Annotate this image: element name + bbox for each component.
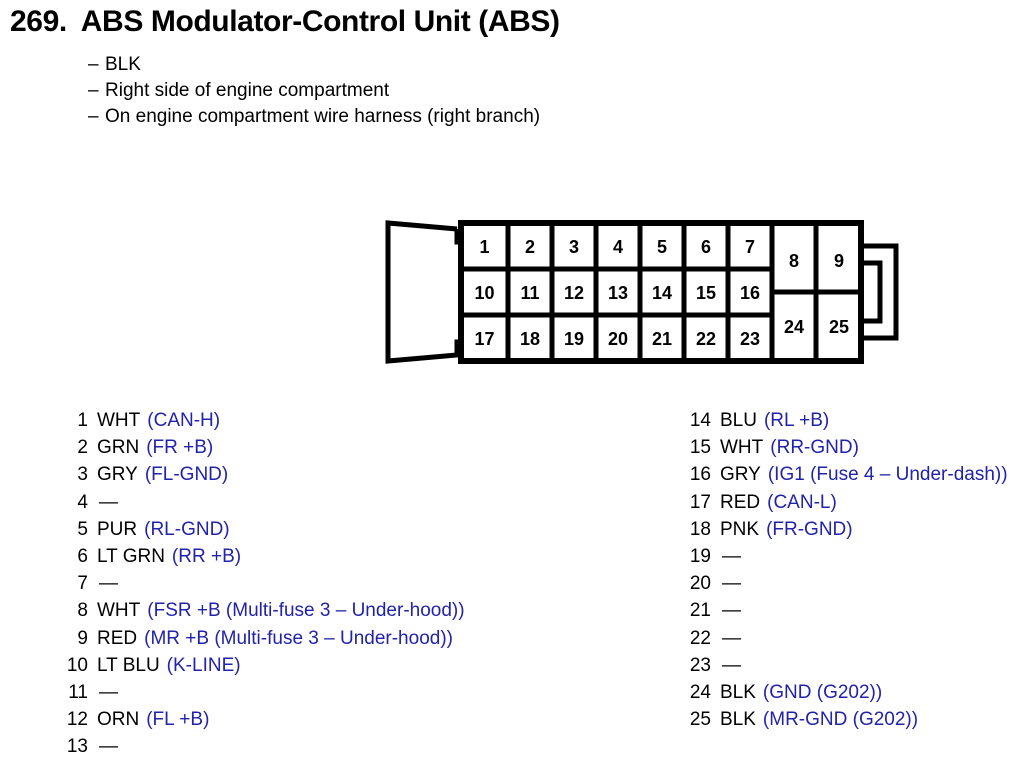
pin-circuit-name: (RR +B) [172, 546, 241, 568]
pin-cell-16: 16 [740, 283, 760, 303]
pin-number: 19 [685, 546, 711, 568]
pin-wire-color: ORN [97, 709, 139, 731]
pin-wire-color: GRY [97, 464, 138, 486]
pin-number: 6 [62, 546, 88, 568]
pin-cell-23: 23 [740, 329, 760, 349]
pin-cell-12: 12 [564, 283, 584, 303]
pin-number: 3 [62, 464, 88, 486]
pin-row: 14BLU(RL +B) [685, 410, 1008, 437]
pin-row: 8WHT(FSR +B (Multi-fuse 3 – Under-hood)) [62, 600, 465, 627]
pin-number: 16 [685, 464, 711, 486]
pin-wire-color: PNK [720, 519, 759, 541]
pin-number: 7 [62, 573, 88, 595]
pin-circuit-name: (MR +B (Multi-fuse 3 – Under-hood)) [144, 628, 453, 650]
pin-number: 17 [685, 492, 711, 514]
pin-unused-marker: — [99, 736, 118, 758]
pin-wire-color: GRN [97, 437, 139, 459]
pin-circuit-name: (FL +B) [146, 709, 209, 731]
pin-wire-color: LT BLU [97, 655, 160, 677]
pin-row: 23— [685, 655, 1008, 682]
pin-cell-15: 15 [696, 283, 716, 303]
pin-row: 21— [685, 600, 1008, 627]
pin-unused-marker: — [99, 682, 118, 704]
pin-number: 8 [62, 600, 88, 622]
pin-circuit-name: (IG1 (Fuse 4 – Under-dash)) [768, 464, 1008, 486]
pin-unused-marker: — [722, 655, 741, 677]
pin-cell-20: 20 [608, 329, 628, 349]
pin-circuit-name: (GND (G202)) [763, 682, 882, 704]
pin-circuit-name: (MR-GND (G202)) [763, 709, 918, 731]
pin-row: 3GRY(FL-GND) [62, 464, 465, 491]
pin-number: 20 [685, 573, 711, 595]
connector-pinout-diagram: 1 2 3 4 5 6 7 10 11 12 13 14 15 16 17 18… [383, 218, 903, 366]
note-dash-icon: – [88, 104, 105, 130]
pin-row: 18PNK(FR-GND) [685, 519, 1008, 546]
pin-row: 6LT GRN(RR +B) [62, 546, 465, 573]
pin-wire-color: WHT [97, 410, 140, 432]
component-note-0: –BLK [88, 52, 540, 78]
pin-cell-14: 14 [652, 283, 672, 303]
pin-number: 4 [62, 492, 88, 514]
pin-unused-marker: — [722, 600, 741, 622]
pin-row: 10LT BLU(K-LINE) [62, 655, 465, 682]
pin-cell-25: 25 [829, 317, 849, 337]
pin-row: 2GRN(FR +B) [62, 437, 465, 464]
note-text: BLK [105, 52, 141, 78]
pin-number: 13 [62, 736, 88, 758]
note-dash-icon: – [88, 52, 105, 78]
pin-cell-22: 22 [696, 329, 716, 349]
pin-cell-9: 9 [834, 251, 844, 271]
page-title-number: 269. [10, 5, 67, 38]
pin-circuit-name: (FR +B) [146, 437, 213, 459]
pin-number: 25 [685, 709, 711, 731]
pin-cell-19: 19 [564, 329, 584, 349]
pin-cell-21: 21 [652, 329, 672, 349]
pin-cell-17: 17 [474, 329, 494, 349]
note-dash-icon: – [88, 78, 105, 104]
pin-cell-1: 1 [479, 237, 489, 257]
pin-number: 21 [685, 600, 711, 622]
pin-number: 5 [62, 519, 88, 541]
pin-number: 1 [62, 410, 88, 432]
pin-assignment-list: 1WHT(CAN-H)2GRN(FR +B)3GRY(FL-GND)4—5PUR… [0, 410, 1031, 766]
pin-row: 4— [62, 492, 465, 519]
page-title: 269.ABS Modulator-Control Unit (ABS) [10, 4, 560, 40]
pin-circuit-name: (FR-GND) [766, 519, 853, 541]
pin-cell-10: 10 [474, 283, 494, 303]
pin-wire-color: RED [720, 492, 760, 514]
pin-unused-marker: — [722, 628, 741, 650]
pin-cell-18: 18 [520, 329, 540, 349]
pin-number: 11 [62, 682, 88, 704]
pin-cell-4: 4 [613, 237, 623, 257]
pin-cell-6: 6 [701, 237, 711, 257]
pin-number: 12 [62, 709, 88, 731]
pin-cell-8: 8 [789, 251, 799, 271]
page-title-text: ABS Modulator-Control Unit (ABS) [81, 5, 560, 38]
pin-circuit-name: (RR-GND) [770, 437, 859, 459]
component-notes-list: –BLK–Right side of engine compartment–On… [88, 52, 540, 130]
pin-row: 25BLK(MR-GND (G202)) [685, 709, 1008, 736]
pin-cell-13: 13 [608, 283, 628, 303]
pin-row: 22— [685, 628, 1008, 655]
pin-circuit-name: (FSR +B (Multi-fuse 3 – Under-hood)) [147, 600, 464, 622]
pin-wire-color: LT GRN [97, 546, 165, 568]
pin-row: 17RED(CAN-L) [685, 492, 1008, 519]
pin-number: 22 [685, 628, 711, 650]
pin-number: 15 [685, 437, 711, 459]
component-note-1: –Right side of engine compartment [88, 78, 540, 104]
pin-number: 14 [685, 410, 711, 432]
pin-wire-color: WHT [720, 437, 763, 459]
pin-wire-color: BLU [720, 410, 757, 432]
pin-circuit-name: (CAN-L) [767, 492, 837, 514]
pin-cell-2: 2 [525, 237, 535, 257]
pin-number: 18 [685, 519, 711, 541]
pin-row: 13— [62, 736, 465, 763]
pin-circuit-name: (CAN-H) [147, 410, 220, 432]
connector-svg: 1 2 3 4 5 6 7 10 11 12 13 14 15 16 17 18… [383, 218, 903, 366]
note-text: On engine compartment wire harness (righ… [105, 104, 540, 130]
pin-unused-marker: — [99, 573, 118, 595]
pin-number: 24 [685, 682, 711, 704]
pin-wire-color: BLK [720, 709, 756, 731]
pin-circuit-name: (K-LINE) [167, 655, 241, 677]
connector-left-wedge-icon [388, 223, 469, 361]
pin-unused-marker: — [722, 546, 741, 568]
pin-row: 1WHT(CAN-H) [62, 410, 465, 437]
pin-row: 5PUR(RL-GND) [62, 519, 465, 546]
pin-cell-7: 7 [745, 237, 755, 257]
pin-wire-color: BLK [720, 682, 756, 704]
pin-number: 23 [685, 655, 711, 677]
pin-circuit-name: (FL-GND) [145, 464, 228, 486]
pin-list-left-column: 1WHT(CAN-H)2GRN(FR +B)3GRY(FL-GND)4—5PUR… [62, 410, 465, 763]
pin-circuit-name: (RL-GND) [144, 519, 230, 541]
pin-wire-color: PUR [97, 519, 137, 541]
pin-list-right-column: 14BLU(RL +B)15WHT(RR-GND)16GRY(IG1 (Fuse… [685, 410, 1008, 736]
pin-wire-color: RED [97, 628, 137, 650]
pin-cell-5: 5 [657, 237, 667, 257]
pin-row: 11— [62, 682, 465, 709]
pin-row: 15WHT(RR-GND) [685, 437, 1008, 464]
pin-row: 12ORN(FL +B) [62, 709, 465, 736]
pin-wire-color: WHT [97, 600, 140, 622]
pin-cell-11: 11 [520, 283, 539, 303]
pin-number: 9 [62, 628, 88, 650]
pin-circuit-name: (RL +B) [764, 410, 829, 432]
pin-row: 9RED(MR +B (Multi-fuse 3 – Under-hood)) [62, 628, 465, 655]
pin-unused-marker: — [722, 573, 741, 595]
pin-row: 16GRY(IG1 (Fuse 4 – Under-dash)) [685, 464, 1008, 491]
pin-number: 2 [62, 437, 88, 459]
pin-unused-marker: — [99, 492, 118, 514]
pin-cell-24: 24 [784, 317, 804, 337]
pin-wire-color: GRY [720, 464, 761, 486]
pin-number: 10 [62, 655, 88, 677]
pin-row: 24BLK(GND (G202)) [685, 682, 1008, 709]
pin-row: 20— [685, 573, 1008, 600]
pin-row: 19— [685, 546, 1008, 573]
pin-cell-3: 3 [569, 237, 579, 257]
component-note-2: –On engine compartment wire harness (rig… [88, 104, 540, 130]
note-text: Right side of engine compartment [105, 78, 389, 104]
pin-row: 7— [62, 573, 465, 600]
